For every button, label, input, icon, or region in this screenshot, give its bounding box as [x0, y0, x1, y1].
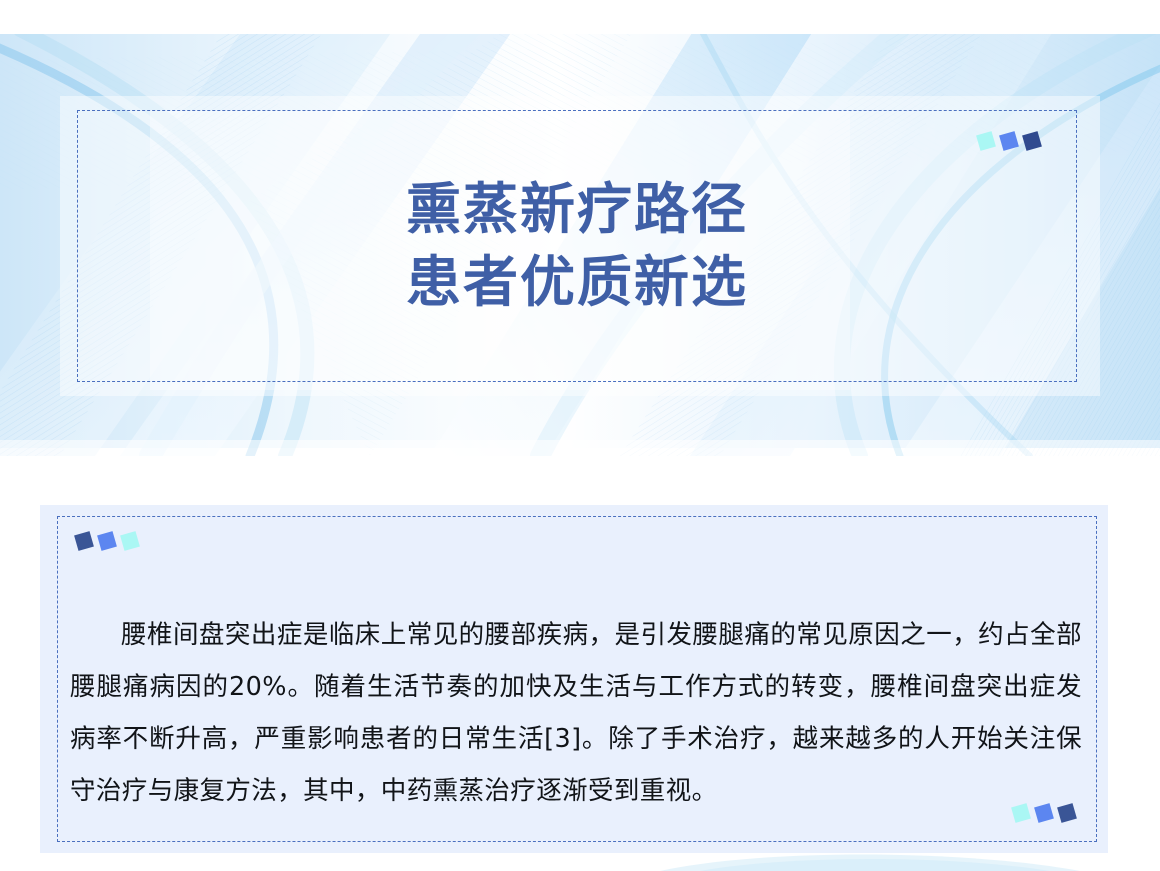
bottom-decorative-arc: [0, 853, 1160, 871]
content-panel: 腰椎间盘突出症是临床上常见的腰部疾病，是引发腰腿痛的常见原因之一，约占全部腰腿痛…: [40, 505, 1108, 853]
diamond-cyan-icon: [976, 131, 996, 151]
hero-decor-diamonds: [978, 133, 1040, 149]
diamond-navy-icon: [74, 531, 94, 551]
diamond-blue-icon: [1034, 803, 1054, 823]
hero-title-frame: 熏蒸新疗路径 患者优质新选: [77, 110, 1077, 382]
diamond-blue-icon: [999, 131, 1019, 151]
diamond-cyan-icon: [120, 531, 140, 551]
diamond-navy-icon: [1022, 131, 1042, 151]
panel-decor-diamonds-bottom-right: [1013, 805, 1075, 821]
page-title-line-1: 熏蒸新疗路径: [406, 173, 748, 246]
body-paragraph: 腰椎间盘突出症是临床上常见的腰部疾病，是引发腰腿痛的常见原因之一，约占全部腰腿痛…: [70, 609, 1082, 817]
page-title: 熏蒸新疗路径 患者优质新选: [406, 173, 748, 319]
diamond-cyan-icon: [1011, 803, 1031, 823]
hero-banner: 熏蒸新疗路径 患者优质新选: [0, 0, 1160, 456]
panel-decor-diamonds-top-left: [76, 533, 138, 549]
page-title-line-2: 患者优质新选: [406, 246, 748, 319]
diamond-blue-icon: [97, 531, 117, 551]
diamond-navy-icon: [1057, 803, 1077, 823]
